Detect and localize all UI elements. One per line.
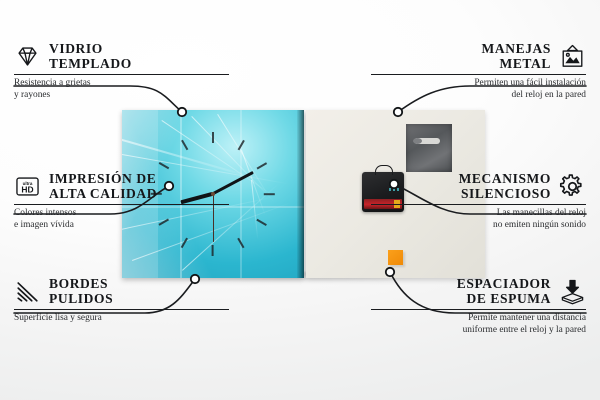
feature-desc-line1: Permite mantener una distancia [371,313,586,324]
feature-espaciador-espuma: ESPACIADOR DE ESPUMA Permite mantener un… [371,277,586,336]
feature-desc-line2: del reloj en la pared [371,90,586,101]
feature-title-line1: MANEJAS [482,41,551,56]
feature-desc-line1: Superficie lisa y segura [14,313,229,324]
feature-divider [371,309,586,310]
ultra-hd-icon: ultra HD [14,173,41,200]
feature-title-line1: MECANISMO [459,171,551,186]
arrow-down-pad-icon [559,278,586,305]
feature-impresion-alta-calidad: ultra HD IMPRESIÓN DE ALTA CALIDAD Color… [14,172,229,231]
svg-text:HD: HD [21,184,33,194]
feature-title-line2: ALTA CALIDAD [49,186,157,201]
feature-vidrio-templado: VIDRIO TEMPLADO Resistencia a grietas y … [14,42,229,101]
feature-title-line1: VIDRIO [49,41,103,56]
feature-desc-line2: no emiten ningún sonido [371,220,586,231]
feature-desc-line1: Permiten una fácil instalación [371,78,586,89]
feature-desc-line1: Resistencia a grietas [14,78,229,89]
feature-desc-line2: uniforme entre el reloj y la pared [371,325,586,336]
feature-title-line2: TEMPLADO [49,56,132,71]
feature-desc-line1: Colores intensos [14,208,229,219]
feature-desc-line2: e imagen vívida [14,220,229,231]
feature-manejas-metal: MANEJAS METAL Permiten una fácil instala… [371,42,586,101]
metal-hanger-plate [406,124,452,172]
diamond-icon [14,43,41,70]
feature-divider [14,74,229,75]
diagonal-lines-icon [14,278,41,305]
feature-desc-line1: Las manecillas del reloj [371,208,586,219]
feature-desc-line2: y rayones [14,90,229,101]
foam-spacer [388,250,403,265]
feature-divider [371,204,586,205]
feature-title-line2: METAL [499,56,551,71]
feature-mecanismo-silencioso: MECANISMO SILENCIOSO Las manecillas del … [371,172,586,231]
feature-bordes-pulidos: BORDES PULIDOS Superficie lisa y segura [14,277,229,325]
feature-title-line1: BORDES [49,276,108,291]
gear-icon [559,173,586,200]
picture-frame-hanger-icon [559,43,586,70]
feature-divider [371,74,586,75]
infographic-canvas: VIDRIO TEMPLADO Resistencia a grietas y … [0,0,600,400]
feature-title-line2: DE ESPUMA [466,291,551,306]
feature-title-line1: ESPACIADOR [457,276,551,291]
feature-divider [14,204,229,205]
feature-title-line2: SILENCIOSO [461,186,551,201]
feature-divider [14,309,229,310]
feature-title-line1: IMPRESIÓN DE [49,171,156,186]
feature-title-line2: PULIDOS [49,291,113,306]
